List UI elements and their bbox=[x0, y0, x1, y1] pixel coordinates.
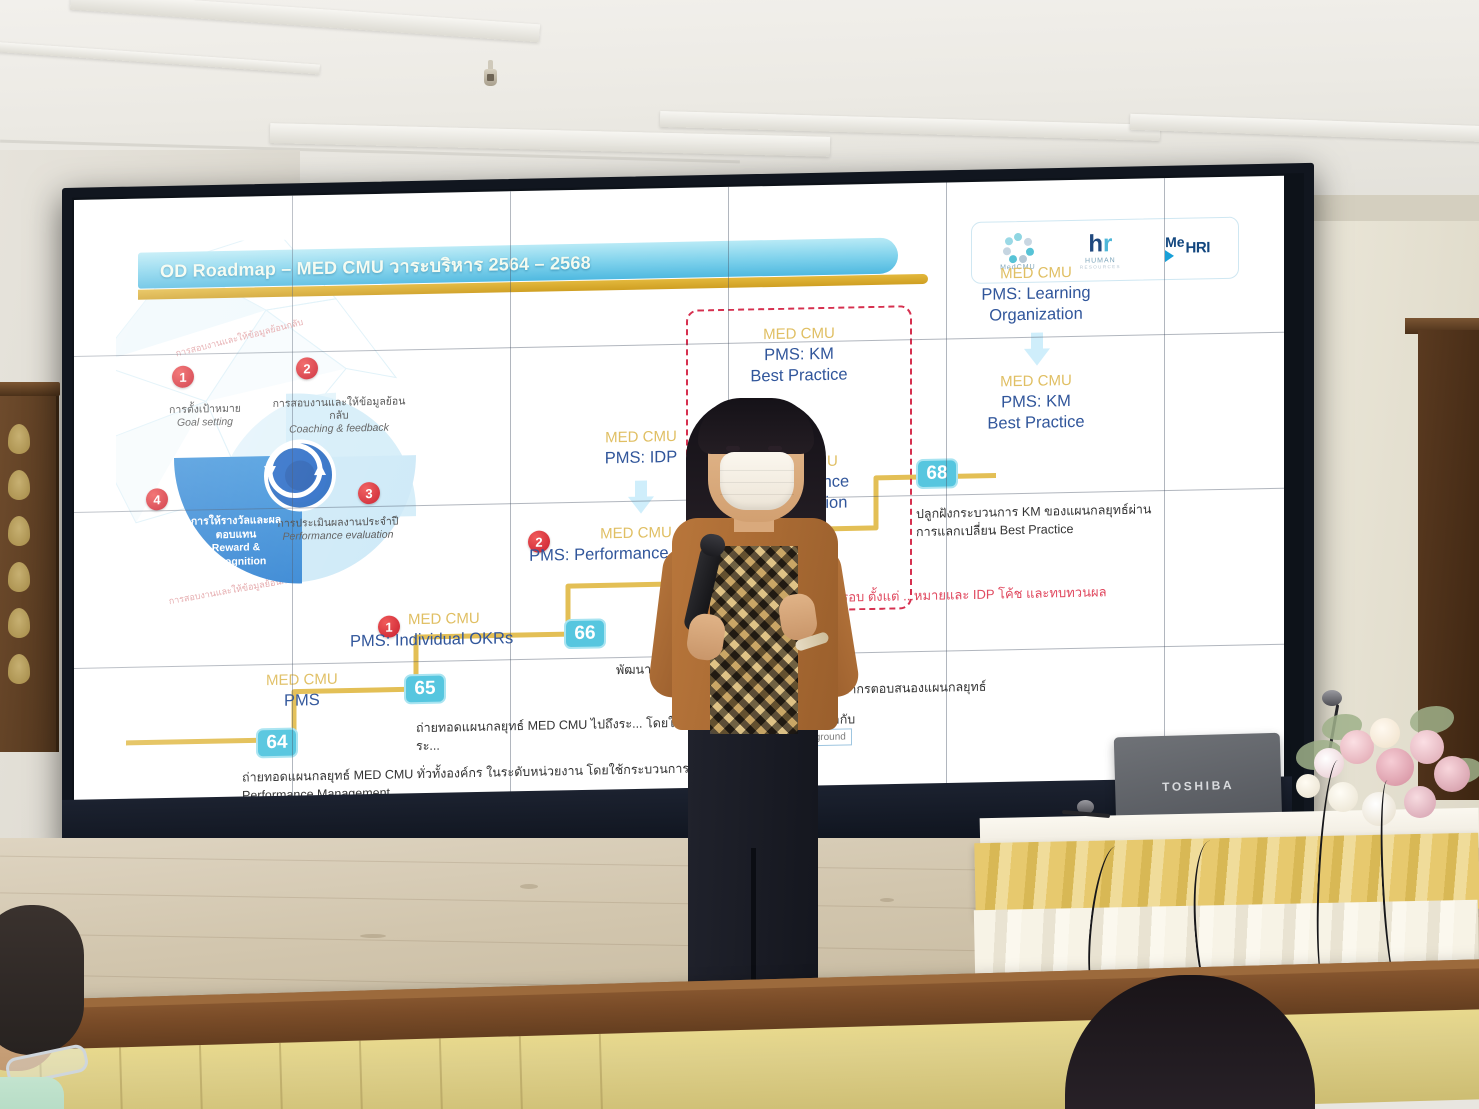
presenter-fringe bbox=[698, 398, 814, 454]
laptop-brand-label: TOSHIBA bbox=[1115, 777, 1281, 796]
milestone-65-med: MED CMU bbox=[408, 609, 513, 630]
audience-member-right bbox=[1065, 975, 1335, 1109]
year-badge-65: 65 bbox=[404, 674, 446, 705]
milestone-64: MED CMU PMS bbox=[266, 671, 338, 713]
km-line3: Best Practice bbox=[696, 364, 902, 390]
conference-room-scene: OD Roadmap – MED CMU วาระบริหาร 2564 – 2… bbox=[0, 0, 1479, 1109]
milestone-65: MED CMU PMS: Individual OKRs bbox=[408, 609, 513, 651]
wall-right-cornice bbox=[1297, 195, 1479, 221]
presenter-face-mask bbox=[720, 452, 794, 510]
milestone-64-med: MED CMU bbox=[266, 671, 338, 691]
milestone-65-pms: PMS: Individual OKRs bbox=[350, 628, 513, 653]
year-badge-66: 66 bbox=[564, 618, 606, 649]
milestone-68-note: ปลูกฝังกระบวนการ KM ของแผนกลยุทธ์ผ่าน กา… bbox=[916, 500, 1166, 541]
audience-member-left bbox=[0, 905, 100, 1109]
km68-block: MED CMU PMS: KM Best Practice bbox=[916, 370, 1156, 436]
learning-org-block: MED CMU PMS: Learning Organization bbox=[916, 262, 1156, 328]
presenter-eye-left bbox=[726, 446, 740, 451]
audience-green-mask bbox=[0, 1077, 64, 1109]
presenter-eye-right bbox=[768, 446, 782, 451]
wooden-wall-panel bbox=[0, 392, 59, 752]
sprinkler-head-icon bbox=[484, 60, 497, 86]
km-best-practice-block: MED CMU PMS: KM Best Practice bbox=[696, 323, 902, 389]
year-badge-68: 68 bbox=[916, 458, 958, 489]
milestone-64-pms: PMS bbox=[266, 689, 338, 712]
